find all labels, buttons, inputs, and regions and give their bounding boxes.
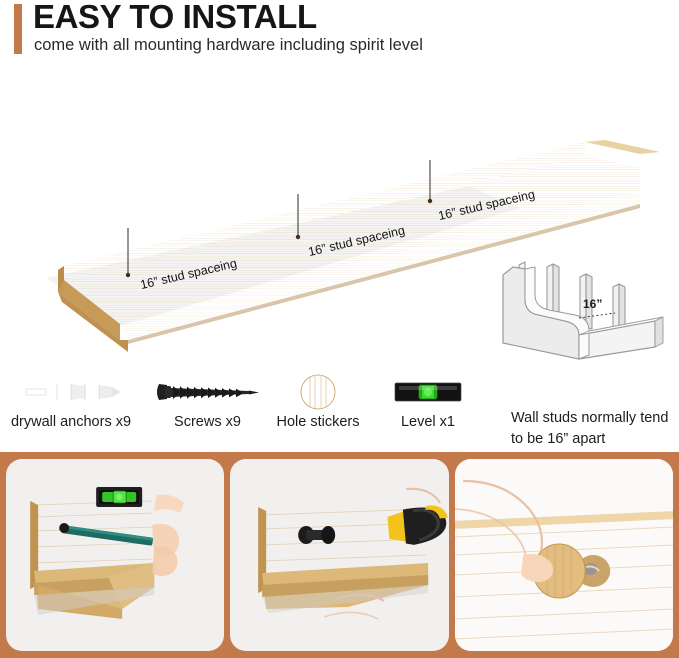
spirit-level-icon	[378, 372, 478, 412]
photo-panel-step-level	[6, 459, 224, 651]
hardware-label: drywall anchors x9	[6, 414, 136, 430]
step-hole-sticker-illustration	[455, 459, 673, 651]
step-level-illustration	[6, 459, 224, 651]
hardware-item-level: Level x1	[378, 372, 478, 430]
hardware-label: Level x1	[378, 414, 478, 430]
wall-stud-caption: Wall studs normally tend to be 16” apart	[511, 408, 671, 450]
photo-panel-step-screw	[230, 459, 448, 651]
screw-icon	[145, 372, 270, 412]
hardware-item-hole-stickers: Hole stickers	[258, 372, 378, 430]
drywall-anchor-icon	[6, 372, 136, 412]
wall-stud-svg	[495, 255, 670, 370]
hardware-list: drywall anchors x9	[0, 372, 500, 444]
installation-steps-strip	[0, 452, 679, 658]
hardware-item-screws: Screws x9	[145, 372, 270, 430]
hardware-label: Hole stickers	[258, 414, 378, 430]
page-subtitle: come with all mounting hardware includin…	[34, 36, 423, 55]
photo-panel-step-cover-hole	[455, 459, 673, 651]
hole-sticker-icon	[258, 372, 378, 412]
accent-bar	[14, 4, 22, 54]
page-title: EASY TO INSTALL	[33, 0, 317, 36]
hardware-item-drywall-anchors: drywall anchors x9	[6, 372, 136, 430]
wall-stud-diagram: 16”	[495, 255, 670, 370]
stud-dimension-label: 16”	[583, 297, 602, 311]
step-screw-illustration	[230, 459, 448, 651]
header: EASY TO INSTALL come with all mounting h…	[0, 0, 679, 78]
hardware-label: Screws x9	[145, 414, 270, 430]
